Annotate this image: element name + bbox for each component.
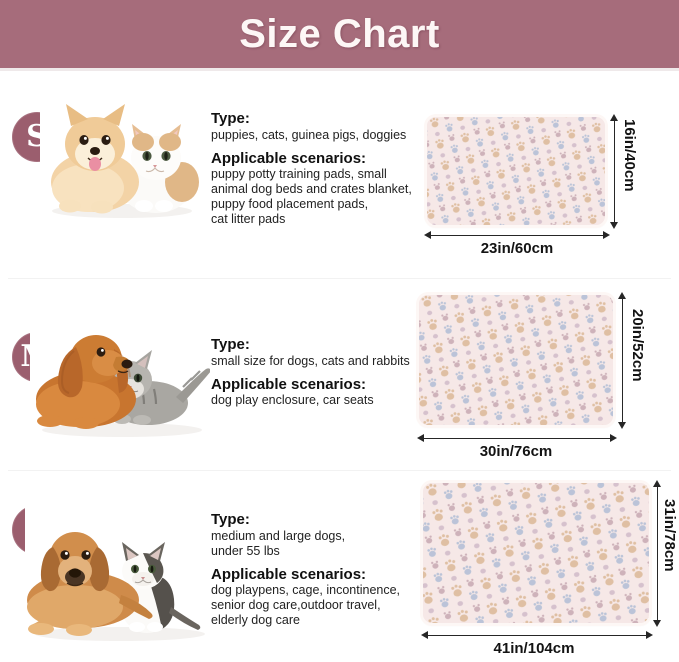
pad-paw-pattern [423, 483, 649, 623]
height-arrow-up-icon [618, 292, 626, 299]
width-arrow-left-icon [417, 434, 424, 442]
height-dimension-line [614, 120, 615, 222]
width-dimension-line [427, 635, 647, 636]
width-label: 41in/104cm [454, 640, 614, 657]
height-label: 20in/52cm [629, 309, 646, 382]
width-dimension-line [423, 438, 611, 439]
row-divider [8, 278, 671, 279]
pad-diagram-medium: 30in/76cm 20in/52cm [0, 283, 679, 473]
width-dimension-line [430, 235, 604, 236]
pet-pad-medium [419, 295, 613, 425]
pet-pad-large [423, 483, 649, 623]
pad-paw-pattern [427, 117, 605, 225]
size-row-small: S [0, 74, 679, 274]
height-label: 16in/40cm [621, 119, 638, 192]
width-arrow-right-icon [610, 434, 617, 442]
width-arrow-right-icon [603, 231, 610, 239]
height-dimension-line [657, 486, 658, 620]
width-label: 30in/76cm [436, 443, 596, 460]
page-title: Size Chart [239, 14, 440, 54]
pet-pad-small [427, 117, 605, 225]
width-arrow-right-icon [646, 631, 653, 639]
height-arrow-up-icon [610, 114, 618, 121]
height-arrow-up-icon [653, 480, 661, 487]
width-arrow-left-icon [421, 631, 428, 639]
width-label: 23in/60cm [437, 240, 597, 257]
header-underline [0, 68, 679, 71]
size-row-medium: M [0, 283, 679, 473]
page-header: Size Chart [0, 0, 679, 68]
pad-diagram-small: 23in/60cm 16in/40cm [0, 74, 679, 274]
width-arrow-left-icon [424, 231, 431, 239]
pad-diagram-large: 41in/104cm 31in/78cm [0, 475, 679, 662]
height-arrow-down-icon [653, 620, 661, 627]
pad-paw-pattern [419, 295, 613, 425]
height-dimension-line [622, 298, 623, 422]
height-label: 31in/78cm [661, 499, 678, 572]
height-arrow-down-icon [610, 222, 618, 229]
height-arrow-down-icon [618, 422, 626, 429]
size-row-large: L [0, 475, 679, 662]
